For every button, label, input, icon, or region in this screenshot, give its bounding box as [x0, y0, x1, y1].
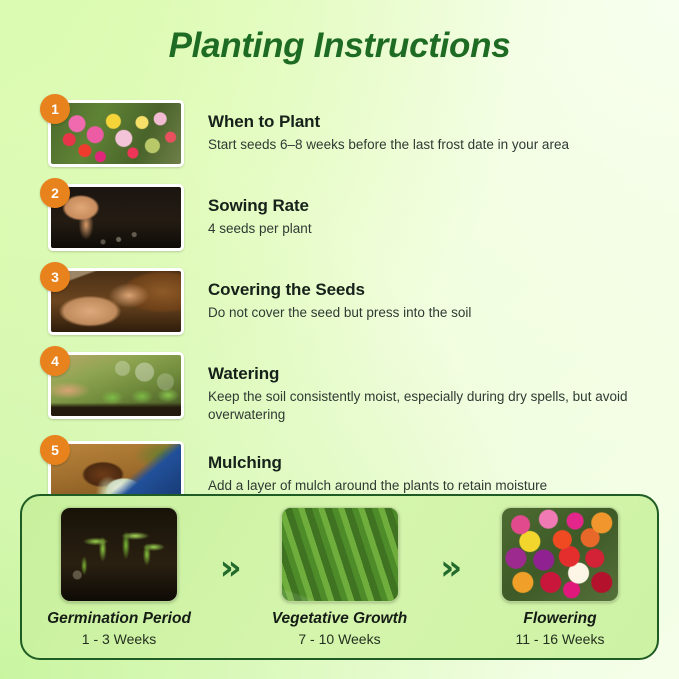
timeline-stage-label: Vegetative Growth — [265, 610, 415, 628]
step-thumbnail-wrap: 3 — [40, 268, 184, 335]
list-item: 3 Covering the Seeds Do not cover the se… — [40, 262, 649, 335]
leafy-green-foliage-photo — [282, 508, 398, 601]
step-number-badge: 2 — [40, 178, 70, 208]
step-title: Mulching — [208, 453, 547, 473]
step-number-badge: 1 — [40, 94, 70, 124]
hand-sowing-seeds-in-dark-soil-photo — [51, 187, 181, 248]
chevron-double-right-icon: » — [440, 551, 459, 603]
step-description: Keep the soil consistently moist, especi… — [208, 388, 628, 424]
step-title: Watering — [208, 364, 628, 384]
timeline-stage-duration: 1 - 3 Weeks — [44, 631, 194, 647]
steps-list: 1 When to Plant Start seeds 6–8 weeks be… — [40, 94, 649, 519]
step-thumbnail-wrap: 4 — [40, 352, 184, 419]
timeline-stage-germination: Germination Period 1 - 3 Weeks — [44, 507, 194, 647]
step-number-badge: 4 — [40, 346, 70, 376]
timeline-stage-duration: 11 - 16 Weeks — [485, 631, 635, 647]
step-description: Do not cover the seed but press into the… — [208, 304, 471, 322]
colorful-primula-flowers-photo — [51, 103, 181, 164]
step-description: Start seeds 6–8 weeks before the last fr… — [208, 136, 569, 154]
timeline-stage-image — [60, 507, 178, 602]
step-thumbnail-wrap: 1 — [40, 100, 184, 167]
step-text: When to Plant Start seeds 6–8 weeks befo… — [184, 94, 569, 154]
list-item: 1 When to Plant Start seeds 6–8 weeks be… — [40, 94, 649, 167]
step-text: Mulching Add a layer of mulch around the… — [184, 435, 547, 495]
step-thumbnail-wrap: 2 — [40, 184, 184, 251]
timeline-stage-vegetative-growth: Vegetative Growth 7 - 10 Weeks — [265, 507, 415, 647]
timeline-stage-flowering: Flowering 11 - 16 Weeks — [485, 507, 635, 647]
step-number-badge: 5 — [40, 435, 70, 465]
step-description: Add a layer of mulch around the plants t… — [208, 477, 547, 495]
growth-timeline-panel: Germination Period 1 - 3 Weeks » Vegetat… — [20, 494, 659, 660]
timeline-stage-image — [281, 507, 399, 602]
timeline-stage-label: Germination Period — [44, 610, 194, 628]
list-item: 2 Sowing Rate 4 seeds per plant — [40, 178, 649, 251]
hands-planting-in-brown-soil-photo — [51, 271, 181, 332]
step-title: Covering the Seeds — [208, 280, 471, 300]
step-title: When to Plant — [208, 112, 569, 132]
step-text: Covering the Seeds Do not cover the seed… — [184, 262, 471, 322]
page-title: Planting Instructions — [0, 26, 679, 66]
list-item: 4 Watering Keep the soil consistently mo… — [40, 346, 649, 424]
step-description: 4 seeds per plant — [208, 220, 312, 238]
seedlings-sprouting-in-soil-photo — [61, 508, 177, 601]
step-title: Sowing Rate — [208, 196, 312, 216]
mass-of-colorful-blooms-photo — [502, 508, 618, 601]
planting-instructions-infographic: Planting Instructions 1 When to Plant St… — [0, 0, 679, 679]
timeline-stage-image — [501, 507, 619, 602]
chevron-double-right-icon: » — [220, 551, 239, 603]
step-text: Sowing Rate 4 seeds per plant — [184, 178, 312, 238]
timeline-stage-label: Flowering — [485, 610, 635, 628]
step-number-badge: 3 — [40, 262, 70, 292]
timeline-stage-duration: 7 - 10 Weeks — [265, 631, 415, 647]
hand-watering-seedlings-photo — [51, 355, 181, 416]
step-text: Watering Keep the soil consistently mois… — [184, 346, 628, 424]
